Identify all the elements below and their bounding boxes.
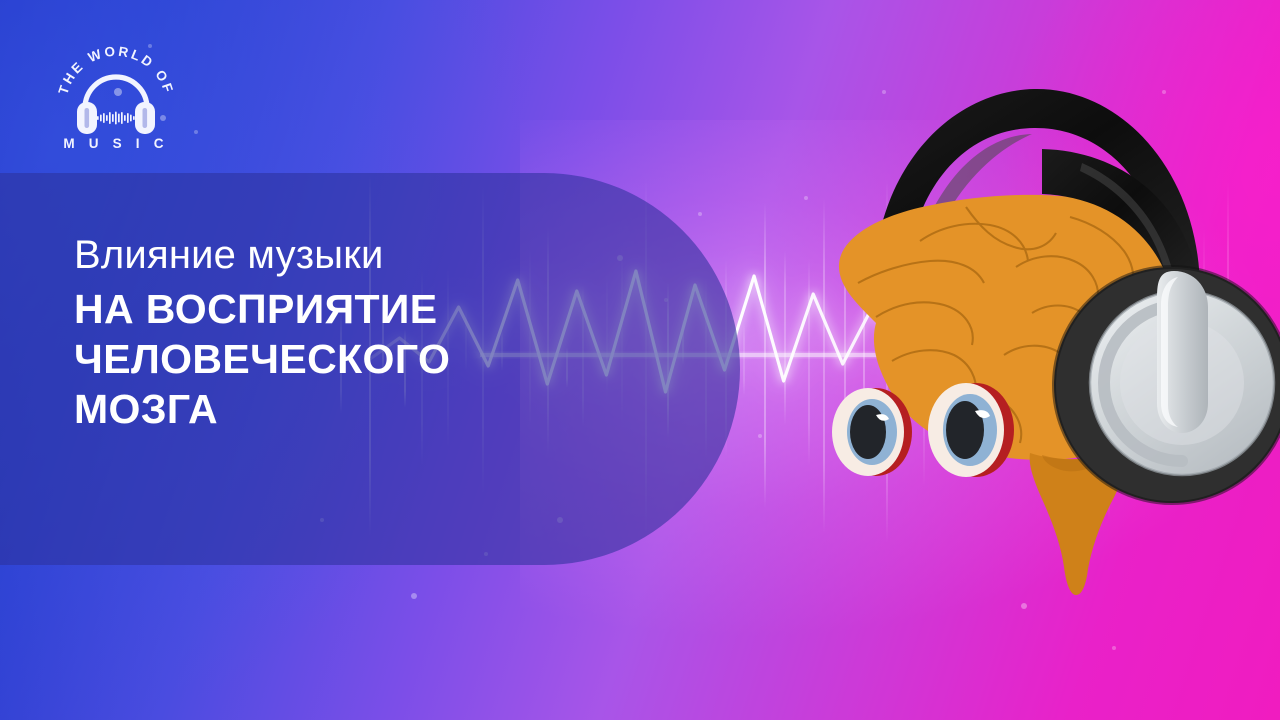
brain-body xyxy=(839,195,1166,595)
title-main-line-2: ЧЕЛОВЕЧЕСКОГО xyxy=(74,334,674,384)
magenta-glow-overlay xyxy=(1000,0,1280,380)
title-block: Влияние музыки НА ВОСПРИЯТИЕ ЧЕЛОВЕЧЕСКО… xyxy=(74,233,674,434)
headphone-band-back xyxy=(873,89,1200,295)
headphone-band-front xyxy=(1042,149,1200,291)
title-panel: Влияние музыки НА ВОСПРИЯТИЕ ЧЕЛОВЕЧЕСКО… xyxy=(0,173,740,565)
brand-logo[interactable]: THE WORLD OF M U S I C xyxy=(52,22,180,150)
brain-eyes xyxy=(832,383,1014,477)
logo-earcup-right-icon xyxy=(135,102,155,134)
logo-wordmark: M U S I C xyxy=(63,136,168,150)
logo-arc-text: THE WORLD OF xyxy=(55,44,176,97)
logo-waveform-icon xyxy=(97,112,135,125)
brain-sulci xyxy=(858,207,1133,443)
title-main-line-3: МОЗГА xyxy=(74,384,674,434)
title-main-line-1: НА ВОСПРИЯТИЕ xyxy=(74,284,674,334)
logo-earcup-left-icon xyxy=(77,102,97,134)
brain-with-headphones-illustration xyxy=(780,55,1280,615)
headphone-earcup-right xyxy=(1054,267,1280,503)
eye-right xyxy=(928,383,1014,477)
logo-headband-icon xyxy=(85,77,147,108)
slide-canvas: Влияние музыки НА ВОСПРИЯТИЕ ЧЕЛОВЕЧЕСКО… xyxy=(0,0,1280,720)
title-subline: Влияние музыки xyxy=(74,233,674,278)
eye-left xyxy=(832,388,912,476)
